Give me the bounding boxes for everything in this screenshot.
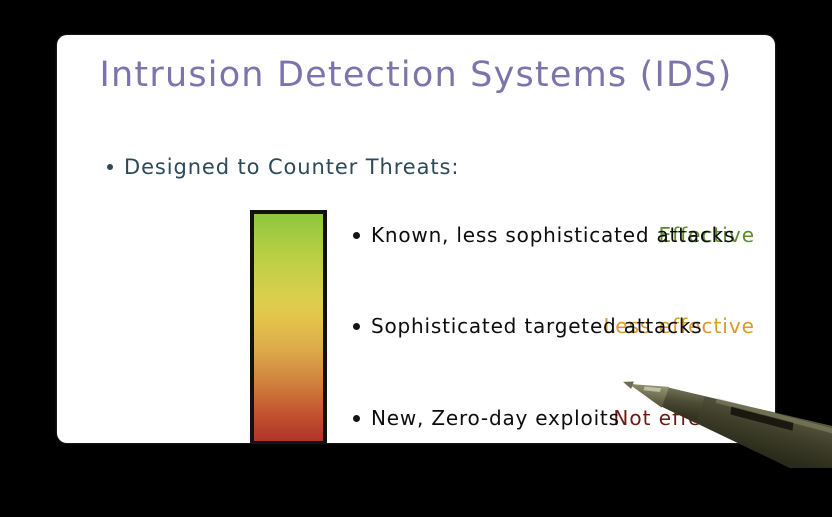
bullet-dot-icon xyxy=(353,232,360,239)
list-item: Sophisticated targeted attacks xyxy=(353,314,703,338)
list-item: New, Zero-day exploits xyxy=(353,406,620,430)
effectiveness-scale: Effective Less effective Not effective K… xyxy=(57,195,775,443)
list-item: Known, less sophisticated attacks xyxy=(353,223,735,247)
slide-card: Intrusion Detection Systems (IDS) Design… xyxy=(57,35,775,443)
slide-viewport: Intrusion Detection Systems (IDS) Design… xyxy=(0,0,832,517)
scale-item-targeted-attacks: Sophisticated targeted attacks xyxy=(371,314,703,338)
lead-bullet-label: Designed to Counter Threats: xyxy=(124,155,459,179)
effectiveness-gradient-bar xyxy=(250,210,327,443)
lead-bullet-row: Designed to Counter Threats: xyxy=(107,155,459,179)
scale-item-known-attacks: Known, less sophisticated attacks xyxy=(371,223,735,247)
page-title: Intrusion Detection Systems (IDS) xyxy=(57,55,775,95)
bullet-dot-icon xyxy=(353,415,360,422)
bullet-dot-icon xyxy=(353,323,360,330)
scale-item-zero-day-exploits: New, Zero-day exploits xyxy=(371,406,620,430)
bullet-dot-icon xyxy=(107,164,113,170)
